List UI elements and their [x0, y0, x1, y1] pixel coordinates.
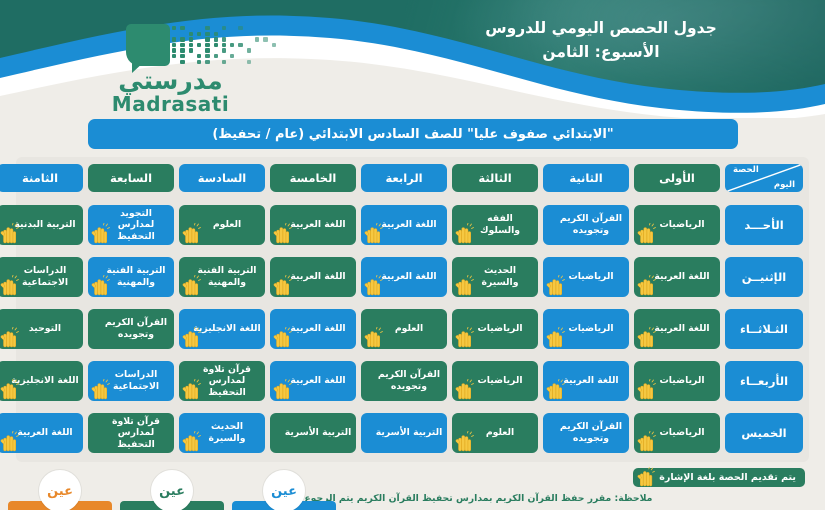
- sign-language-hand-icon: [272, 327, 292, 349]
- subject-cell[interactable]: القرآن الكريم وتجويده: [88, 309, 174, 349]
- logo-mark: [118, 22, 298, 70]
- subject-label: القرآن الكريم وتجويده: [557, 213, 625, 236]
- sign-language-hand-icon: [272, 223, 292, 245]
- subject-cell[interactable]: التجويد لمدارس التحفيظ: [88, 205, 174, 245]
- subject-cell[interactable]: التربية البدنية: [0, 205, 83, 245]
- sign-language-hand-icon: [636, 327, 656, 349]
- subject-label: القرآن الكريم وتجويده: [102, 317, 170, 340]
- subject-cell[interactable]: اللغة الانجليزية: [0, 361, 83, 401]
- subject-label: اللغة العربية: [290, 271, 345, 283]
- subject-label: الفقه والسلوك: [466, 213, 534, 236]
- subject-label: اللغة العربية: [290, 375, 345, 387]
- sign-language-legend: يتم تقديم الحصة بلغة الإشارة: [633, 468, 805, 487]
- madrasati-logo: مدرستي Madrasati: [78, 22, 298, 112]
- subject-cell[interactable]: الدراسات الاجتماعية: [88, 361, 174, 401]
- subject-label: التربية الأسرية: [285, 427, 352, 439]
- corner-day-label: اليوم: [774, 180, 795, 191]
- table-row: الثـلاثــاءاللغة العربيةالرياضياتالرياضي…: [22, 309, 803, 349]
- subject-label: الدراسات الاجتماعية: [11, 265, 79, 288]
- subject-cell[interactable]: التربية الأسرية: [270, 413, 356, 453]
- sign-language-hand-icon: [454, 431, 474, 453]
- period-header-5: الخامسة: [270, 164, 356, 192]
- subject-label: اللغة العربية: [381, 219, 436, 231]
- subject-label: التربية البدنية: [14, 219, 75, 231]
- subject-cell[interactable]: الفقه والسلوك: [452, 205, 538, 245]
- subject-label: الرياضيات: [659, 219, 704, 231]
- footer-note: ملاحظة: مقرر حفظ القرآن الكريم بمدارس تح…: [285, 493, 805, 504]
- subject-cell[interactable]: اللغة العربية: [270, 205, 356, 245]
- period-header-8: الثامنة: [0, 164, 83, 192]
- subject-label: اللغة العربية: [17, 427, 72, 439]
- corner-period-label: الحصة: [733, 165, 759, 176]
- subject-label: التوحيد: [29, 323, 61, 335]
- subject-label: اللغة العربية: [654, 271, 709, 283]
- period-header-4: الرابعة: [361, 164, 447, 192]
- subject-cell[interactable]: اللغة العربية: [270, 309, 356, 349]
- sign-language-hand-icon: [454, 379, 474, 401]
- day-label-cell: الأحـــد: [725, 205, 803, 245]
- subject-cell[interactable]: العلوم: [452, 413, 538, 453]
- subject-cell[interactable]: قرآن تلاوة لمدارس التحفيظ: [88, 413, 174, 453]
- subject-label: اللغة العربية: [563, 375, 618, 387]
- subject-cell[interactable]: اللغة العربية: [634, 257, 720, 297]
- subject-label: العلوم: [486, 427, 514, 439]
- subject-label: الرياضيات: [568, 271, 613, 283]
- subject-cell[interactable]: اللغة الانجليزية: [179, 309, 265, 349]
- badge-label: عين: [159, 484, 185, 499]
- subject-label: اللغة العربية: [654, 323, 709, 335]
- table-row: الإثنيــناللغة العربيةالرياضياتالحديث وا…: [22, 257, 803, 297]
- subject-label: التجويد لمدارس التحفيظ: [102, 208, 170, 243]
- sign-language-hand-icon: [636, 379, 656, 401]
- subject-cell[interactable]: الرياضيات: [543, 309, 629, 349]
- day-label-cell: الإثنيــن: [725, 257, 803, 297]
- subject-label: القرآن الكريم وتجويده: [557, 421, 625, 444]
- subject-label: القرآن الكريم وتجويده: [375, 369, 443, 392]
- sign-language-hand-icon: [545, 327, 565, 349]
- subject-cell[interactable]: العلوم: [361, 309, 447, 349]
- subject-cell[interactable]: الرياضيات: [452, 309, 538, 349]
- subject-label: الدراسات الاجتماعية: [102, 369, 170, 392]
- header-titles: جدول الحصص اليومي للدروس الأسبوع: الثامن: [421, 16, 781, 64]
- sign-language-hand-icon: [636, 467, 655, 488]
- subject-label: التربية الفنية والمهنية: [193, 265, 261, 288]
- subject-cell[interactable]: اللغة العربية: [0, 413, 83, 453]
- sign-language-hand-icon: [181, 223, 201, 245]
- logo-word-latin: Madrasati: [78, 92, 263, 116]
- week-subtitle: الأسبوع: الثامن: [421, 40, 781, 64]
- badge-circle: عين: [151, 470, 193, 510]
- badge-label: عين: [47, 484, 73, 499]
- subject-cell[interactable]: التربية الفنية والمهنية: [179, 257, 265, 297]
- subject-cell[interactable]: القرآن الكريم وتجويده: [543, 205, 629, 245]
- ien-badge[interactable]: عين: [8, 488, 112, 510]
- period-header-3: الثالثة: [452, 164, 538, 192]
- day-label-cell: الخميس: [725, 413, 803, 453]
- subject-cell[interactable]: الحديث والسيرة: [179, 413, 265, 453]
- subject-cell[interactable]: القرآن الكريم وتجويده: [543, 413, 629, 453]
- table-row: الأحـــدالرياضياتالقرآن الكريم وتجويدهال…: [22, 205, 803, 245]
- sign-language-hand-icon: [0, 431, 19, 453]
- badge-circle: عين: [39, 470, 81, 510]
- period-header-1: الأولى: [634, 164, 720, 192]
- sign-language-hand-icon: [363, 327, 383, 349]
- subject-label: العلوم: [213, 219, 241, 231]
- table-row: الخميسالرياضياتالقرآن الكريم وتجويدهالعل…: [22, 413, 803, 453]
- legend-label: يتم تقديم الحصة بلغة الإشارة: [659, 472, 796, 483]
- grade-banner: "الابتدائي صفوف عليا" للصف السادس الابتد…: [88, 119, 738, 149]
- book-icon: [126, 24, 170, 66]
- subject-label: الرياضيات: [477, 375, 522, 387]
- subject-cell[interactable]: التوحيد: [0, 309, 83, 349]
- subject-cell[interactable]: الرياضيات: [634, 205, 720, 245]
- table-row: الأربعــاءالرياضياتاللغة العربيةالرياضيا…: [22, 361, 803, 401]
- sign-language-hand-icon: [636, 431, 656, 453]
- subject-label: اللغة العربية: [290, 219, 345, 231]
- sign-language-hand-icon: [363, 275, 383, 297]
- subject-cell[interactable]: العلوم: [179, 205, 265, 245]
- subject-cell[interactable]: القرآن الكريم وتجويده: [361, 361, 447, 401]
- badge-label: عين: [271, 484, 297, 499]
- subject-label: قرآن تلاوة لمدارس التحفيظ: [102, 416, 170, 451]
- pixel-dots-icon: [172, 26, 290, 66]
- subject-label: التربية الأسرية: [376, 427, 443, 439]
- subject-cell[interactable]: الدراسات الاجتماعية: [0, 257, 83, 297]
- period-header-6: السادسة: [179, 164, 265, 192]
- subject-cell[interactable]: الرياضيات: [452, 361, 538, 401]
- sign-language-hand-icon: [545, 275, 565, 297]
- ien-badge[interactable]: عين: [120, 488, 224, 510]
- sign-language-hand-icon: [636, 223, 656, 245]
- sign-language-hand-icon: [545, 379, 565, 401]
- subject-cell[interactable]: اللغة العربية: [270, 257, 356, 297]
- subject-label: الحديث والسيرة: [193, 421, 261, 444]
- subject-label: اللغة الانجليزية: [11, 375, 78, 387]
- subject-label: التربية الفنية والمهنية: [102, 265, 170, 288]
- subject-label: الرياضيات: [659, 375, 704, 387]
- subject-label: الرياضيات: [659, 427, 704, 439]
- subject-cell[interactable]: الحديث والسيرة: [452, 257, 538, 297]
- subject-cell[interactable]: اللغة العربية: [270, 361, 356, 401]
- subject-cell[interactable]: الرياضيات: [543, 257, 629, 297]
- subject-cell[interactable]: الرياضيات: [634, 413, 720, 453]
- subject-label: اللغة العربية: [381, 271, 436, 283]
- period-header-2: الثانية: [543, 164, 629, 192]
- day-label-cell: الثـلاثــاء: [725, 309, 803, 349]
- table-header-row: الحصةاليومالأولىالثانيةالثالثةالرابعةالخ…: [22, 164, 803, 192]
- subject-cell[interactable]: الرياضيات: [634, 361, 720, 401]
- badge-circle: عين: [263, 470, 305, 510]
- page-title: جدول الحصص اليومي للدروس: [421, 16, 781, 40]
- subject-cell[interactable]: اللغة العربية: [543, 361, 629, 401]
- schedule-page: مدرستي Madrasati جدول الحصص اليومي للدرو…: [0, 0, 825, 510]
- ien-badge[interactable]: عين: [232, 488, 336, 510]
- sign-language-hand-icon: [636, 275, 656, 297]
- subject-label: اللغة الانجليزية: [193, 323, 260, 335]
- subject-cell[interactable]: اللغة العربية: [361, 257, 447, 297]
- sign-language-hand-icon: [272, 275, 292, 297]
- subject-cell[interactable]: التربية الأسرية: [361, 413, 447, 453]
- table-corner-cell: الحصةاليوم: [725, 164, 803, 192]
- subject-label: الحديث والسيرة: [466, 265, 534, 288]
- ien-badges: عينعينعين: [0, 476, 330, 510]
- subject-cell[interactable]: اللغة العربية: [361, 205, 447, 245]
- subject-cell[interactable]: اللغة العربية: [634, 309, 720, 349]
- subject-label: العلوم: [395, 323, 423, 335]
- logo-word-arabic: مدرستي: [78, 68, 263, 94]
- sign-language-hand-icon: [363, 223, 383, 245]
- subject-label: اللغة العربية: [290, 323, 345, 335]
- subject-label: الرياضيات: [568, 323, 613, 335]
- schedule-table: الحصةاليومالأولىالثانيةالثالثةالرابعةالخ…: [16, 157, 809, 462]
- subject-cell[interactable]: التربية الفنية والمهنية: [88, 257, 174, 297]
- period-header-7: السابعة: [88, 164, 174, 192]
- subject-cell[interactable]: قرآن تلاوة لمدارس التحفيظ: [179, 361, 265, 401]
- sign-language-hand-icon: [0, 327, 19, 349]
- subject-label: قرآن تلاوة لمدارس التحفيظ: [193, 364, 261, 399]
- sign-language-hand-icon: [454, 327, 474, 349]
- sign-language-hand-icon: [272, 379, 292, 401]
- subject-label: الرياضيات: [477, 323, 522, 335]
- day-label-cell: الأربعــاء: [725, 361, 803, 401]
